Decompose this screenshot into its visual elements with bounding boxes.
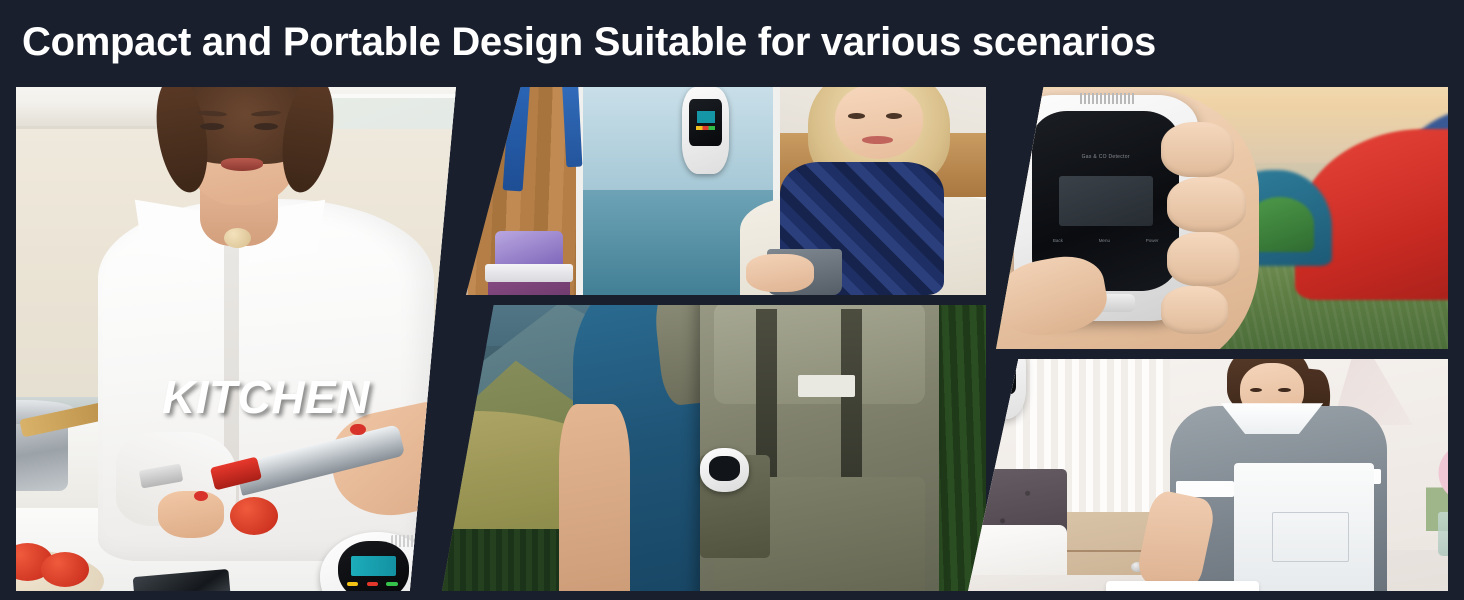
eye-left bbox=[1250, 388, 1263, 392]
detector-button-menu: Menu bbox=[1099, 237, 1110, 250]
finger bbox=[1167, 232, 1240, 287]
panel-camping: Gas & CO Detector Back Menu Power bbox=[996, 87, 1448, 349]
tomato bbox=[41, 552, 89, 587]
eye-left bbox=[200, 123, 224, 130]
bottle-cap bbox=[495, 231, 564, 268]
gas-detector-device bbox=[320, 532, 434, 591]
mouth bbox=[862, 136, 893, 143]
window-sky bbox=[583, 87, 773, 190]
detector-screen bbox=[981, 359, 1016, 394]
woman-hand bbox=[746, 254, 814, 291]
hotel-photo bbox=[968, 359, 1448, 591]
detector-lcd-readout bbox=[1059, 176, 1153, 227]
panel-kitchen: KITCHEN bbox=[16, 87, 456, 591]
product-feature-banner: Compact and Portable Design Suitable for… bbox=[0, 0, 1464, 600]
detector-button-row: Back Menu Power bbox=[1053, 237, 1159, 250]
woman-hand-left bbox=[158, 491, 224, 538]
detector-button-back: Back bbox=[1053, 237, 1063, 250]
rv-photo bbox=[466, 87, 986, 295]
rv-curtain bbox=[466, 87, 468, 295]
tomato-being-sliced bbox=[230, 497, 278, 535]
kitchen-photo bbox=[16, 87, 456, 591]
outdoors-photo bbox=[442, 305, 986, 591]
finger bbox=[1167, 177, 1247, 232]
vase bbox=[1438, 512, 1448, 556]
detector-screen bbox=[709, 456, 741, 481]
finger bbox=[1161, 122, 1234, 177]
detector-screen bbox=[338, 541, 409, 591]
panel-label-kitchen: KITCHEN bbox=[162, 370, 370, 424]
camping-photo: Gas & CO Detector Back Menu Power bbox=[996, 87, 1448, 349]
fingernail bbox=[350, 424, 366, 436]
detector-lcd-readout bbox=[351, 556, 396, 576]
finger bbox=[1161, 286, 1228, 334]
detector-lcd-readout bbox=[989, 360, 1007, 372]
panel-outdoors: Outdoors bbox=[442, 305, 986, 591]
eye-right bbox=[1278, 388, 1291, 392]
necklace-pendant bbox=[224, 228, 251, 248]
gas-detector-device bbox=[682, 87, 730, 173]
eye-left bbox=[848, 113, 864, 119]
scenario-panel-grid: KITCHEN bbox=[0, 78, 1464, 600]
mouth bbox=[221, 158, 263, 171]
panel-hotel: hotel bbox=[968, 359, 1448, 591]
detector-screen bbox=[689, 99, 721, 146]
detector-led-green bbox=[386, 582, 397, 587]
detector-button-power: Power bbox=[1146, 237, 1159, 250]
eye-right bbox=[886, 113, 902, 119]
detector-led-bar bbox=[696, 126, 715, 129]
eye-right bbox=[254, 123, 278, 130]
gas-detector-device bbox=[700, 448, 749, 492]
hiker-arm bbox=[559, 404, 629, 591]
bottle-band bbox=[485, 264, 573, 282]
folded-towels bbox=[1106, 581, 1260, 591]
detector-lcd-readout bbox=[697, 111, 715, 123]
water-bottle bbox=[488, 231, 570, 295]
detector-led-yellow bbox=[347, 582, 358, 587]
apron-pocket bbox=[1272, 512, 1349, 562]
detector-vent-grille bbox=[1080, 93, 1135, 104]
detector-led-bar bbox=[989, 375, 1008, 378]
page-title: Compact and Portable Design Suitable for… bbox=[22, 13, 1442, 71]
backpack-logo-patch bbox=[798, 375, 854, 397]
panel-rv: RV bbox=[466, 87, 986, 295]
detector-face-label: Gas & CO Detector bbox=[1056, 154, 1156, 167]
detector-led-red bbox=[367, 582, 378, 587]
